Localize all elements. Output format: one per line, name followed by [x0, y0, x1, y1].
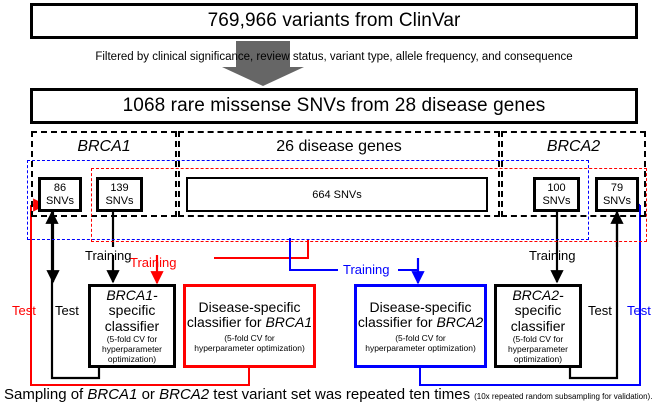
classifier-box-disease-specific-brca2: Disease-specific classifier for BRCA2 (5…: [354, 284, 487, 368]
snv-count-139: 139: [110, 182, 128, 195]
caption-gene-1: BRCA1: [87, 386, 137, 403]
group-label-brca1: BRCA1: [33, 138, 175, 156]
label-training-blue: Training: [343, 262, 389, 277]
figure-caption: Sampling of BRCA1 or BRCA2 test variant …: [4, 386, 652, 403]
classifier-brca1-line1: BRCA1-: [106, 288, 157, 304]
filtered-snvs-box: 1068 rare missense SNVs from 28 disease …: [30, 88, 638, 124]
edge-blue-training-link: [290, 238, 338, 270]
classifier-box-disease-specific-brca1: Disease-specific classifier for BRCA1 (5…: [183, 284, 316, 368]
classifier-brca1-sub1: (5-fold CV for: [107, 334, 158, 344]
snv-box-middle-train: 664 SNVs: [186, 177, 488, 212]
classifier-brca2-sub3: optimization): [514, 354, 562, 364]
classifier-brca2-line3: classifier: [511, 319, 565, 335]
filter-criteria-label: Filtered by clinical significance, revie…: [30, 51, 638, 63]
classifier-ds-brca1-sub2: hyperparameter optimization): [194, 343, 305, 353]
snv-count-86: 86: [54, 182, 66, 195]
classifier-ds-brca2-line1: Disease-specific: [370, 300, 472, 316]
group-label-middle: 26 disease genes: [180, 138, 498, 156]
classifier-brca2-sub2: hyperparameter: [508, 344, 568, 354]
caption-part-a: Sampling of: [4, 386, 87, 403]
label-training-black-right: Training: [529, 248, 575, 263]
classifier-brca2-sub1: (5-fold CV for: [513, 334, 564, 344]
snv-unit-79: SNVs: [603, 195, 631, 208]
source-variants-box: 769,966 variants from ClinVar: [30, 3, 638, 39]
caption-gene-2: BRCA2: [159, 386, 209, 403]
source-variants-label: 769,966 variants from ClinVar: [208, 10, 461, 32]
label-training-red: Training: [130, 255, 176, 270]
snv-unit-100: SNVs: [542, 195, 570, 208]
classifier-box-brca1-specific: BRCA1- specific classifier (5-fold CV fo…: [88, 284, 176, 368]
classifier-ds-brca1-line1: Disease-specific: [199, 300, 301, 316]
caption-part-c: test variant set was repeated ten times: [209, 386, 470, 403]
snv-count-100: 100: [547, 182, 565, 195]
classifier-brca1-line3: classifier: [105, 319, 159, 335]
classifier-ds-brca2-line2-gene: BRCA2: [436, 314, 483, 330]
classifier-ds-brca2-line2: classifier for BRCA2: [358, 315, 483, 331]
down-block-arrow-icon: [222, 41, 304, 86]
label-test-black-right: Test: [588, 303, 612, 318]
edge-red-training-link: [262, 240, 308, 258]
label-test-blue: Test: [627, 303, 651, 318]
classifier-ds-brca1-sub1: (5-fold CV for: [224, 333, 275, 343]
classifier-ds-brca1-line2-gene: BRCA1: [265, 314, 312, 330]
classifier-brca1-line2: specific: [109, 303, 156, 319]
edge-blue-training-bend: [398, 258, 418, 270]
snv-label-664: 664 SNVs: [312, 189, 362, 201]
snv-box-brca1-test: 86 SNVs: [38, 177, 82, 212]
classifier-brca1-sub2: hyperparameter: [102, 344, 162, 354]
label-test-black-left: Test: [55, 303, 79, 318]
classifier-ds-brca2-sub2: hyperparameter optimization): [365, 343, 476, 353]
label-test-red: Test: [12, 303, 36, 318]
snv-box-brca1-train: 139 SNVs: [96, 177, 143, 212]
classifier-brca2-line2: specific: [515, 303, 562, 319]
classifier-brca2-line1: BRCA2-: [512, 288, 563, 304]
classifier-ds-brca2-line2-prefix: classifier for: [358, 314, 437, 330]
label-training-black-left: Training: [85, 248, 131, 263]
caption-small-note: (10x repeated random subsampling for val…: [474, 392, 652, 401]
classifier-ds-brca2-sub1: (5-fold CV for: [395, 333, 446, 343]
group-label-brca2: BRCA2: [503, 138, 644, 156]
snv-box-brca2-test: 79 SNVs: [595, 177, 639, 212]
figure-canvas: 769,966 variants from ClinVar Filtered b…: [0, 0, 668, 405]
snv-unit-139: SNVs: [105, 195, 133, 208]
snv-unit-86: SNVs: [46, 195, 74, 208]
classifier-ds-brca1-line2-prefix: classifier for: [187, 314, 266, 330]
snv-box-brca2-train: 100 SNVs: [533, 177, 580, 212]
filtered-snvs-label: 1068 rare missense SNVs from 28 disease …: [123, 95, 546, 117]
classifier-brca1-sub3: optimization): [108, 354, 156, 364]
classifier-box-brca2-specific: BRCA2- specific classifier (5-fold CV fo…: [494, 284, 582, 368]
classifier-ds-brca1-line2: classifier for BRCA1: [187, 315, 312, 331]
caption-part-b: or: [137, 386, 159, 403]
snv-count-79: 79: [611, 182, 623, 195]
